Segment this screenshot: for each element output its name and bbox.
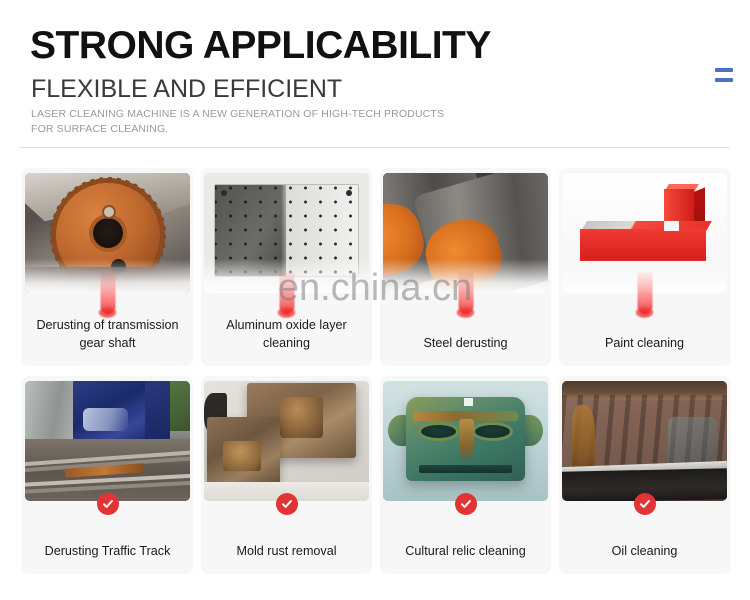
laser-cleaning-applications-page: STRONG APPLICABILITY FLEXIBLE AND EFFICI…: [0, 0, 750, 600]
application-card-caption: Paint cleaning: [559, 334, 730, 352]
page-subtitle: FLEXIBLE AND EFFICIENT: [31, 77, 342, 102]
check-circle-icon: [455, 493, 477, 515]
application-card-caption: Cultural relic cleaning: [380, 542, 551, 560]
application-card-caption: Derusting of transmission gear shaft: [22, 316, 193, 353]
application-card-caption: Aluminum oxide layer cleaning: [201, 316, 372, 353]
rusty-mold-blocks-photo: [204, 381, 369, 501]
blue-train-on-track-photo: [25, 381, 190, 501]
check-circle-icon: [276, 493, 298, 515]
applications-grid: Derusting of transmission gear shaft: [22, 168, 730, 574]
laser-beam-icon: [100, 272, 115, 314]
application-card-caption: Derusting Traffic Track: [22, 542, 193, 560]
laser-beam-icon: [279, 272, 294, 314]
application-card[interactable]: Mold rust removal: [201, 376, 372, 574]
laser-beam-icon: [637, 272, 652, 314]
hamburger-icon[interactable]: [715, 68, 733, 82]
check-circle-icon: [97, 493, 119, 515]
application-card-caption: Oil cleaning: [559, 542, 730, 560]
page-header: STRONG APPLICABILITY FLEXIBLE AND EFFICI…: [0, 0, 750, 160]
laser-beam-icon: [458, 272, 473, 314]
application-card[interactable]: Steel derusting: [380, 168, 551, 366]
application-card[interactable]: Derusting Traffic Track: [22, 376, 193, 574]
applications-row: Derusting Traffic Track Mold rus: [22, 376, 730, 574]
application-card[interactable]: Cultural relic cleaning: [380, 376, 551, 574]
application-card-caption: Steel derusting: [380, 334, 551, 352]
bronze-mask-relic-photo: [383, 381, 548, 501]
application-card[interactable]: Paint cleaning: [559, 168, 730, 366]
oily-metal-surface-photo: [562, 381, 727, 501]
application-card[interactable]: Oil cleaning: [559, 376, 730, 574]
hamburger-bar-bottom: [715, 78, 733, 82]
page-title: STRONG APPLICABILITY: [30, 26, 491, 65]
application-card-caption: Mold rust removal: [201, 542, 372, 560]
page-description: LASER CLEANING MACHINE IS A NEW GENERATI…: [31, 107, 461, 137]
hamburger-bar-top: [715, 68, 733, 72]
applications-row: Derusting of transmission gear shaft: [22, 168, 730, 366]
application-card[interactable]: Aluminum oxide layer cleaning: [201, 168, 372, 366]
header-divider: [20, 147, 730, 148]
check-circle-icon: [634, 493, 656, 515]
application-card[interactable]: Derusting of transmission gear shaft: [22, 168, 193, 366]
